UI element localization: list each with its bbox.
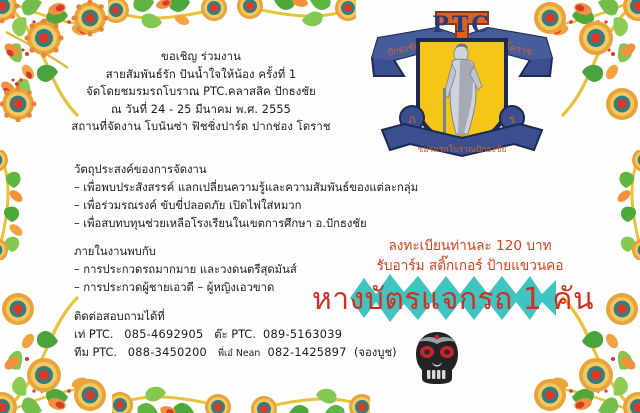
objectives-heading: วัตถุประสงค์ของการจัดงาน (74, 161, 374, 179)
promo-headline: หางบัตรแจกรถ 1 คัน (292, 276, 614, 324)
objectives-block: วัตถุประสงค์ของการจัดงาน – เพื่อพบประสัง… (74, 161, 374, 233)
contact-phone[interactable]: 082-1425897 (268, 346, 347, 359)
club-emblem-icon: PTC ปักธงชัย โคราช ภ ร ชมรมรถโบราณปักธงช… (364, 2, 560, 168)
objectives-item: – เพื่อร่วมรณรงค์ ขับขี่ปลอดภัย เปิดไฟใส… (74, 197, 374, 215)
floral-ornament-icon (112, 381, 232, 413)
contact-phone[interactable]: 088-3450200 (128, 346, 207, 359)
emblem-ribbon-text: ชมรมรถโบราณปักธงชัย (417, 144, 506, 155)
poster-canvas: PTC ปักธงชัย โคราช ภ ร ชมรมรถโบราณปักธงช… (0, 0, 640, 413)
floral-ornament-icon (0, 150, 42, 260)
floral-ornament-icon (236, 0, 356, 32)
inside-event-heading: ภายในงานพบกับ (74, 243, 374, 261)
contact-label: ต๊ะ PTC. (214, 326, 256, 344)
emblem-right-badge: ร (509, 113, 515, 126)
contact-label: เท่ PTC. (74, 326, 113, 344)
contact-phone[interactable]: 085-4692905 (124, 328, 203, 341)
promo-line-1: ลงทะเบียนท่านละ 120 บาท (330, 236, 610, 256)
objectives-item: – เพื่อสบทบทุนช่วยเหลือโรงเรียนในเขตการศ… (74, 215, 374, 233)
contact-row: เท่ PTC. 085-4692905 ต๊ะ PTC. 089-516303… (74, 326, 434, 344)
header-line-2: สายสัมพันธ์รัก ปันน้ำใจให้น้อง ครั้งที่ … (46, 66, 356, 84)
promo-headline-wrap: หางบัตรแจกรถ 1 คัน (292, 276, 614, 324)
contact-row: ทีม PTC. 088-3450200 พี่เอ๋ Nean 082-142… (74, 344, 434, 363)
emblem-left-badge: ภ (408, 113, 415, 126)
header-text-block: ขอเชิญ ร่วมงาน สายสัมพันธ์รัก ปันน้ำใจให… (46, 48, 356, 136)
promo-block: ลงทะเบียนท่านละ 120 บาท รับอาร์ม สติ๊กเก… (330, 236, 610, 276)
header-line-5: สถานที่จัดงาน โบนันซ่า ฟิชชิ่งปาร์ด ปากช… (46, 118, 356, 136)
sugar-skull-sticker-icon (412, 330, 462, 386)
contact-note: (จองบูช) (354, 344, 397, 362)
contact-phone[interactable]: 089-5163039 (263, 328, 342, 341)
floral-ornament-icon (250, 383, 370, 413)
emblem-monogram: PTC (432, 12, 491, 38)
contact-label: ทีม PTC. (74, 344, 117, 362)
contact-label: พี่เอ๋ Nean (218, 345, 260, 363)
floral-ornament-icon (108, 0, 228, 34)
header-line-4: ณ วันที่ 24 - 25 มีนาคม พ.ศ. 2555 (46, 101, 356, 119)
objectives-item: – เพื่อพบประสังสรรค์ แลกเปลี่ยนความรู้แล… (74, 179, 374, 197)
header-line-3: จัดโดยชมรมรถโบราณ PTC.คลาสสิค ปักธงชัย (46, 83, 356, 101)
header-line-1: ขอเชิญ ร่วมงาน (46, 48, 356, 66)
